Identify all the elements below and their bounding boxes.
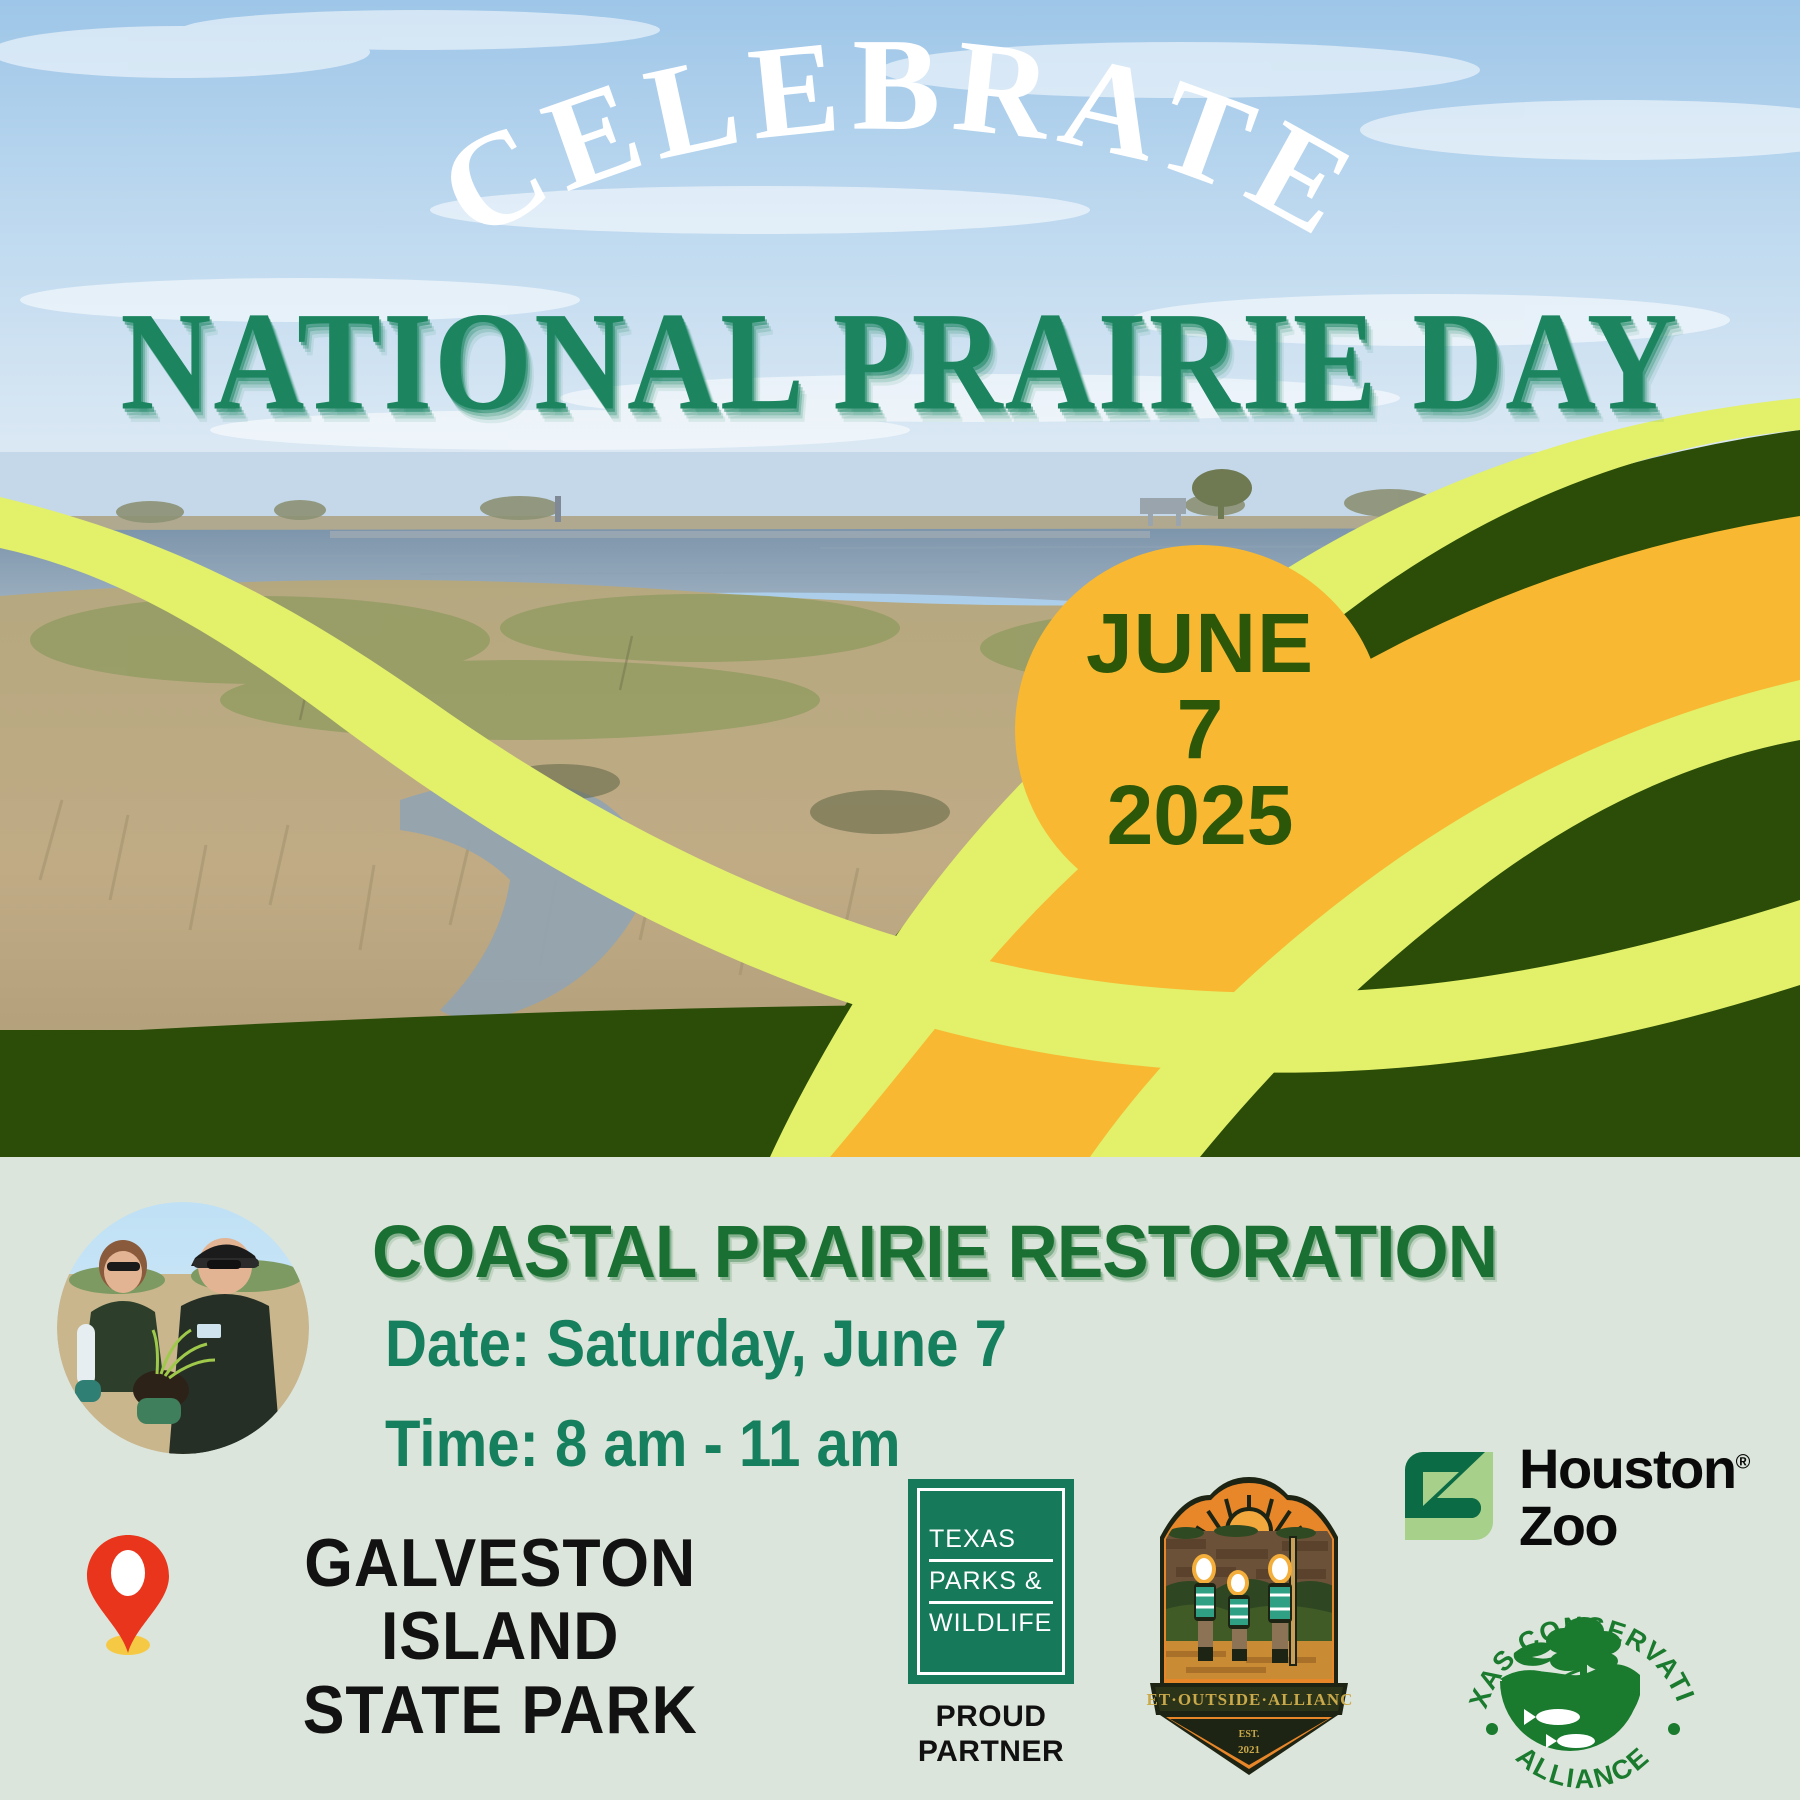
event-date: Date: Saturday, June 7 <box>385 1305 1007 1381</box>
date-badge-month: JUNE <box>1086 601 1314 687</box>
houston-zoo-mark-icon <box>1397 1444 1501 1548</box>
logo-get-outside-alliance: GET·OUTSIDE·ALLIANCE EST. 2021 <box>1146 1469 1352 1789</box>
tpwd-line-1: TEXAS <box>929 1520 1053 1559</box>
logo-houston-zoo: Houston® Zoo <box>1397 1442 1727 1562</box>
goa-est-label: EST. <box>1239 1729 1260 1740</box>
goa-est-year: 2021 <box>1238 1744 1260 1756</box>
event-title: COASTAL PRAIRIE RESTORATION <box>372 1209 1497 1294</box>
tpwd-square: TEXAS PARKS & WILDLIFE <box>908 1479 1074 1684</box>
tpwd-tagline-2: PARTNER <box>918 1735 1064 1768</box>
date-badge-day: 7 <box>1177 687 1224 773</box>
houston-zoo-line-1: Houston <box>1519 1437 1736 1500</box>
logo-texas-conservation-alliance: TEXAS CONSERVATION ALLIANCE <box>1458 1569 1708 1800</box>
event-location: GALVESTON ISLAND STATE PARK <box>215 1527 785 1747</box>
page-title: NATIONAL PRAIRIE DAY <box>0 292 1800 433</box>
hero-artwork <box>0 0 1800 1157</box>
hero-section: CELEBRATE NATIONAL PRAIRIE DAY JUNE 7 20… <box>0 0 1800 1157</box>
tpwd-tagline-1: PROUD <box>936 1700 1047 1733</box>
date-badge: JUNE 7 2025 <box>1015 545 1385 915</box>
registered-mark: ® <box>1736 1451 1749 1473</box>
location-line-1: GALVESTON ISLAND <box>304 1525 696 1674</box>
tpwd-tagline: PROUD PARTNER <box>908 1700 1074 1770</box>
location-line-2: STATE PARK <box>303 1672 698 1748</box>
houston-zoo-line-2: Zoo <box>1519 1494 1617 1557</box>
map-pin-icon <box>86 1535 170 1655</box>
tpwd-line-2: PARKS & <box>929 1559 1053 1601</box>
event-time: Time: 8 am - 11 am <box>385 1405 900 1481</box>
date-badge-year: 2025 <box>1107 773 1294 859</box>
tpwd-line-3: WILDLIFE <box>929 1601 1053 1643</box>
info-panel: COASTAL PRAIRIE RESTORATION Date: Saturd… <box>0 1157 1800 1800</box>
logo-texas-parks-wildlife: TEXAS PARKS & WILDLIFE PROUD PARTNER <box>908 1479 1088 1779</box>
poster-canvas: CELEBRATE NATIONAL PRAIRIE DAY JUNE 7 20… <box>0 0 1800 1800</box>
houston-zoo-wordmark: Houston® Zoo <box>1519 1440 1749 1554</box>
volunteer-photo <box>57 1202 309 1454</box>
goa-banner-text: GET·OUTSIDE·ALLIANCE <box>1146 1690 1352 1709</box>
